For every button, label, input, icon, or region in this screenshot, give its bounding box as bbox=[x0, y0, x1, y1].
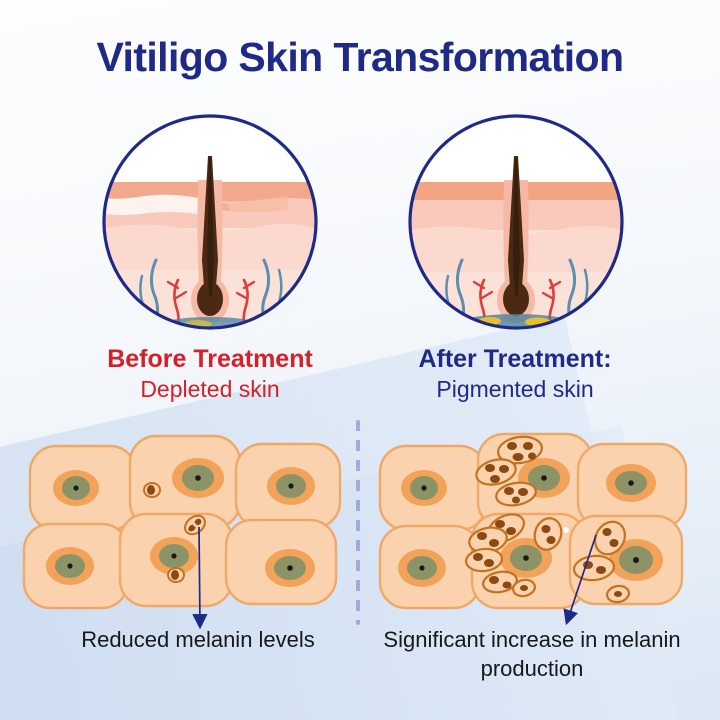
caption-after-treatment: After Treatment: Pigmented skin bbox=[350, 344, 680, 403]
panel-divider bbox=[356, 420, 360, 625]
caption-before-heading: Before Treatment bbox=[45, 344, 375, 375]
page-title: Vitiligo Skin Transformation bbox=[0, 34, 720, 81]
skin-cross-section-depleted-svg bbox=[98, 110, 322, 334]
melanocyte-cells-high-melanin bbox=[378, 430, 718, 610]
cells-before-svg bbox=[14, 430, 354, 610]
note-reduced-melanin: Reduced melanin levels bbox=[48, 626, 348, 655]
melanocyte-cells-low-melanin bbox=[14, 430, 354, 610]
cells-after-svg bbox=[378, 430, 718, 610]
skin-cross-section-pigmented-svg bbox=[404, 110, 628, 334]
caption-before-subtext: Depleted skin bbox=[45, 375, 375, 403]
caption-after-subtext: Pigmented skin bbox=[350, 375, 680, 403]
note-increased-melanin: Significant increase in melanin producti… bbox=[382, 626, 682, 683]
skin-diagram-before bbox=[98, 110, 322, 334]
caption-after-heading: After Treatment: bbox=[350, 344, 680, 375]
skin-diagram-after bbox=[404, 110, 628, 334]
caption-before-treatment: Before Treatment Depleted skin bbox=[45, 344, 375, 403]
infographic-canvas: Vitiligo Skin Transformation bbox=[0, 0, 720, 720]
